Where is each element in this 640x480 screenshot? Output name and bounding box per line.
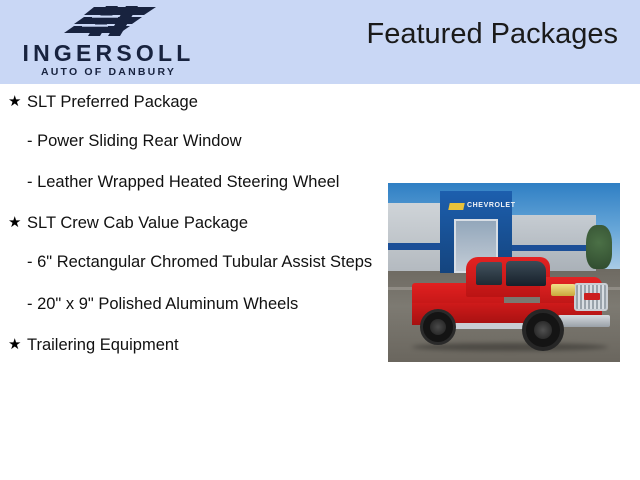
featured-packages-list: ★ SLT Preferred Package - Power Sliding … [0,92,380,374]
list-item-label: SLT Preferred Package [27,93,198,111]
list-item: - Power Sliding Rear Window [0,131,380,152]
chevrolet-bowtie-icon [448,203,464,210]
list-item-label: SLT Crew Cab Value Package [27,214,248,232]
list-item: - Leather Wrapped Heated Steering Wheel [0,172,380,193]
truck-front-window [506,261,546,286]
dealership-accent-stripe [510,245,596,251]
star-bullet-icon: ★ [8,335,21,354]
gmc-badge-icon [584,293,600,300]
list-item-label: - 6" Rectangular Chromed Tubular Assist … [27,252,380,273]
tree [586,225,612,269]
star-bullet-icon: ★ [8,92,21,111]
list-item: ★ SLT Preferred Package [0,92,380,113]
dealership-sign-text: CHEVROLET [467,202,516,209]
dealership-building-left [388,203,444,271]
list-item: - 6" Rectangular Chromed Tubular Assist … [0,252,380,273]
page-header: INGERSOLL AUTO OF DANBURY Featured Packa… [0,0,640,84]
list-item-label: - Leather Wrapped Heated Steering Wheel [27,172,380,193]
list-item: ★ SLT Crew Cab Value Package [0,213,380,234]
star-bullet-icon: ★ [8,213,21,232]
vehicle-photo: CHEVROLET [388,183,620,362]
truck-front-bumper [558,315,610,327]
list-item-label: Trailering Equipment [27,336,179,354]
truck-rear-window [476,262,502,285]
list-item-label: - 20" x 9" Polished Aluminum Wheels [27,294,380,315]
ingersoll-wing-emblem-icon [48,5,163,41]
logo-subwordmark: AUTO OF DANBURY [6,67,211,78]
dealer-logo: INGERSOLL AUTO OF DANBURY [6,2,211,82]
logo-wordmark: INGERSOLL [6,42,211,65]
truck-front-hub [534,321,552,339]
dealership-accent-stripe [388,243,444,250]
list-item-label: - Power Sliding Rear Window [27,131,380,152]
truck-rear-hub [430,319,446,335]
truck-headlight [551,284,575,296]
list-item: ★ Trailering Equipment [0,335,380,356]
page-title: Featured Packages [367,19,618,51]
list-item: - 20" x 9" Polished Aluminum Wheels [0,294,380,315]
